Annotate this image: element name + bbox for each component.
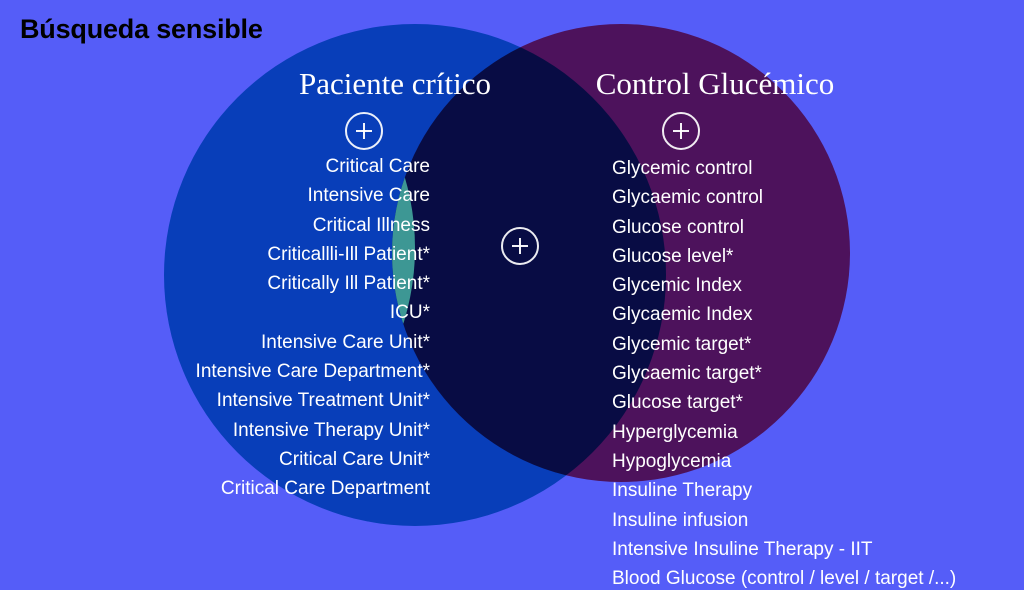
list-item: Criticallli-Ill Patient* [196,240,430,269]
list-item: Critical Care Unit* [196,445,430,474]
list-item: Glucose control [612,213,956,242]
list-item: Insuline infusion [612,506,956,535]
list-item: Glycemic Index [612,271,956,300]
venn-heading-left: Paciente crítico [240,66,550,102]
venn-diagram-slide: Búsqueda sensible Paciente crítico Contr… [0,0,1024,590]
list-item: Hypoglycemia [612,447,956,476]
list-item: Intensive Care Department* [196,357,430,386]
list-item: Glucose target* [612,388,956,417]
list-item: Insuline Therapy [612,476,956,505]
list-item: Critical Care Department [196,474,430,503]
list-item: Blood Glucose (control / level / target … [612,564,956,590]
list-item: Critical Care [196,152,430,181]
list-item: Intensive Care [196,181,430,210]
list-item: Glycemic control [612,154,956,183]
list-item: Intensive Treatment Unit* [196,386,430,415]
list-item: ICU* [196,298,430,327]
plus-circle-icon-right[interactable] [662,112,700,150]
list-item: Glucose level* [612,242,956,271]
venn-heading-right: Control Glucémico [560,66,870,102]
plus-circle-icon-left[interactable] [345,112,383,150]
page-title: Búsqueda sensible [20,14,263,45]
list-item: Glycaemic target* [612,359,956,388]
term-list-right: Glycemic controlGlycaemic controlGlucose… [612,154,956,590]
list-item: Critically Ill Patient* [196,269,430,298]
list-item: Glycaemic control [612,183,956,212]
list-item: Intensive Therapy Unit* [196,416,430,445]
plus-circle-icon-center[interactable] [501,227,539,265]
list-item: Intensive Care Unit* [196,328,430,357]
list-item: Glycemic target* [612,330,956,359]
list-item: Intensive Insuline Therapy - IIT [612,535,956,564]
list-item: Critical Illness [196,211,430,240]
list-item: Hyperglycemia [612,418,956,447]
list-item: Glycaemic Index [612,300,956,329]
term-list-left: Critical CareIntensive CareCritical Illn… [196,152,430,504]
